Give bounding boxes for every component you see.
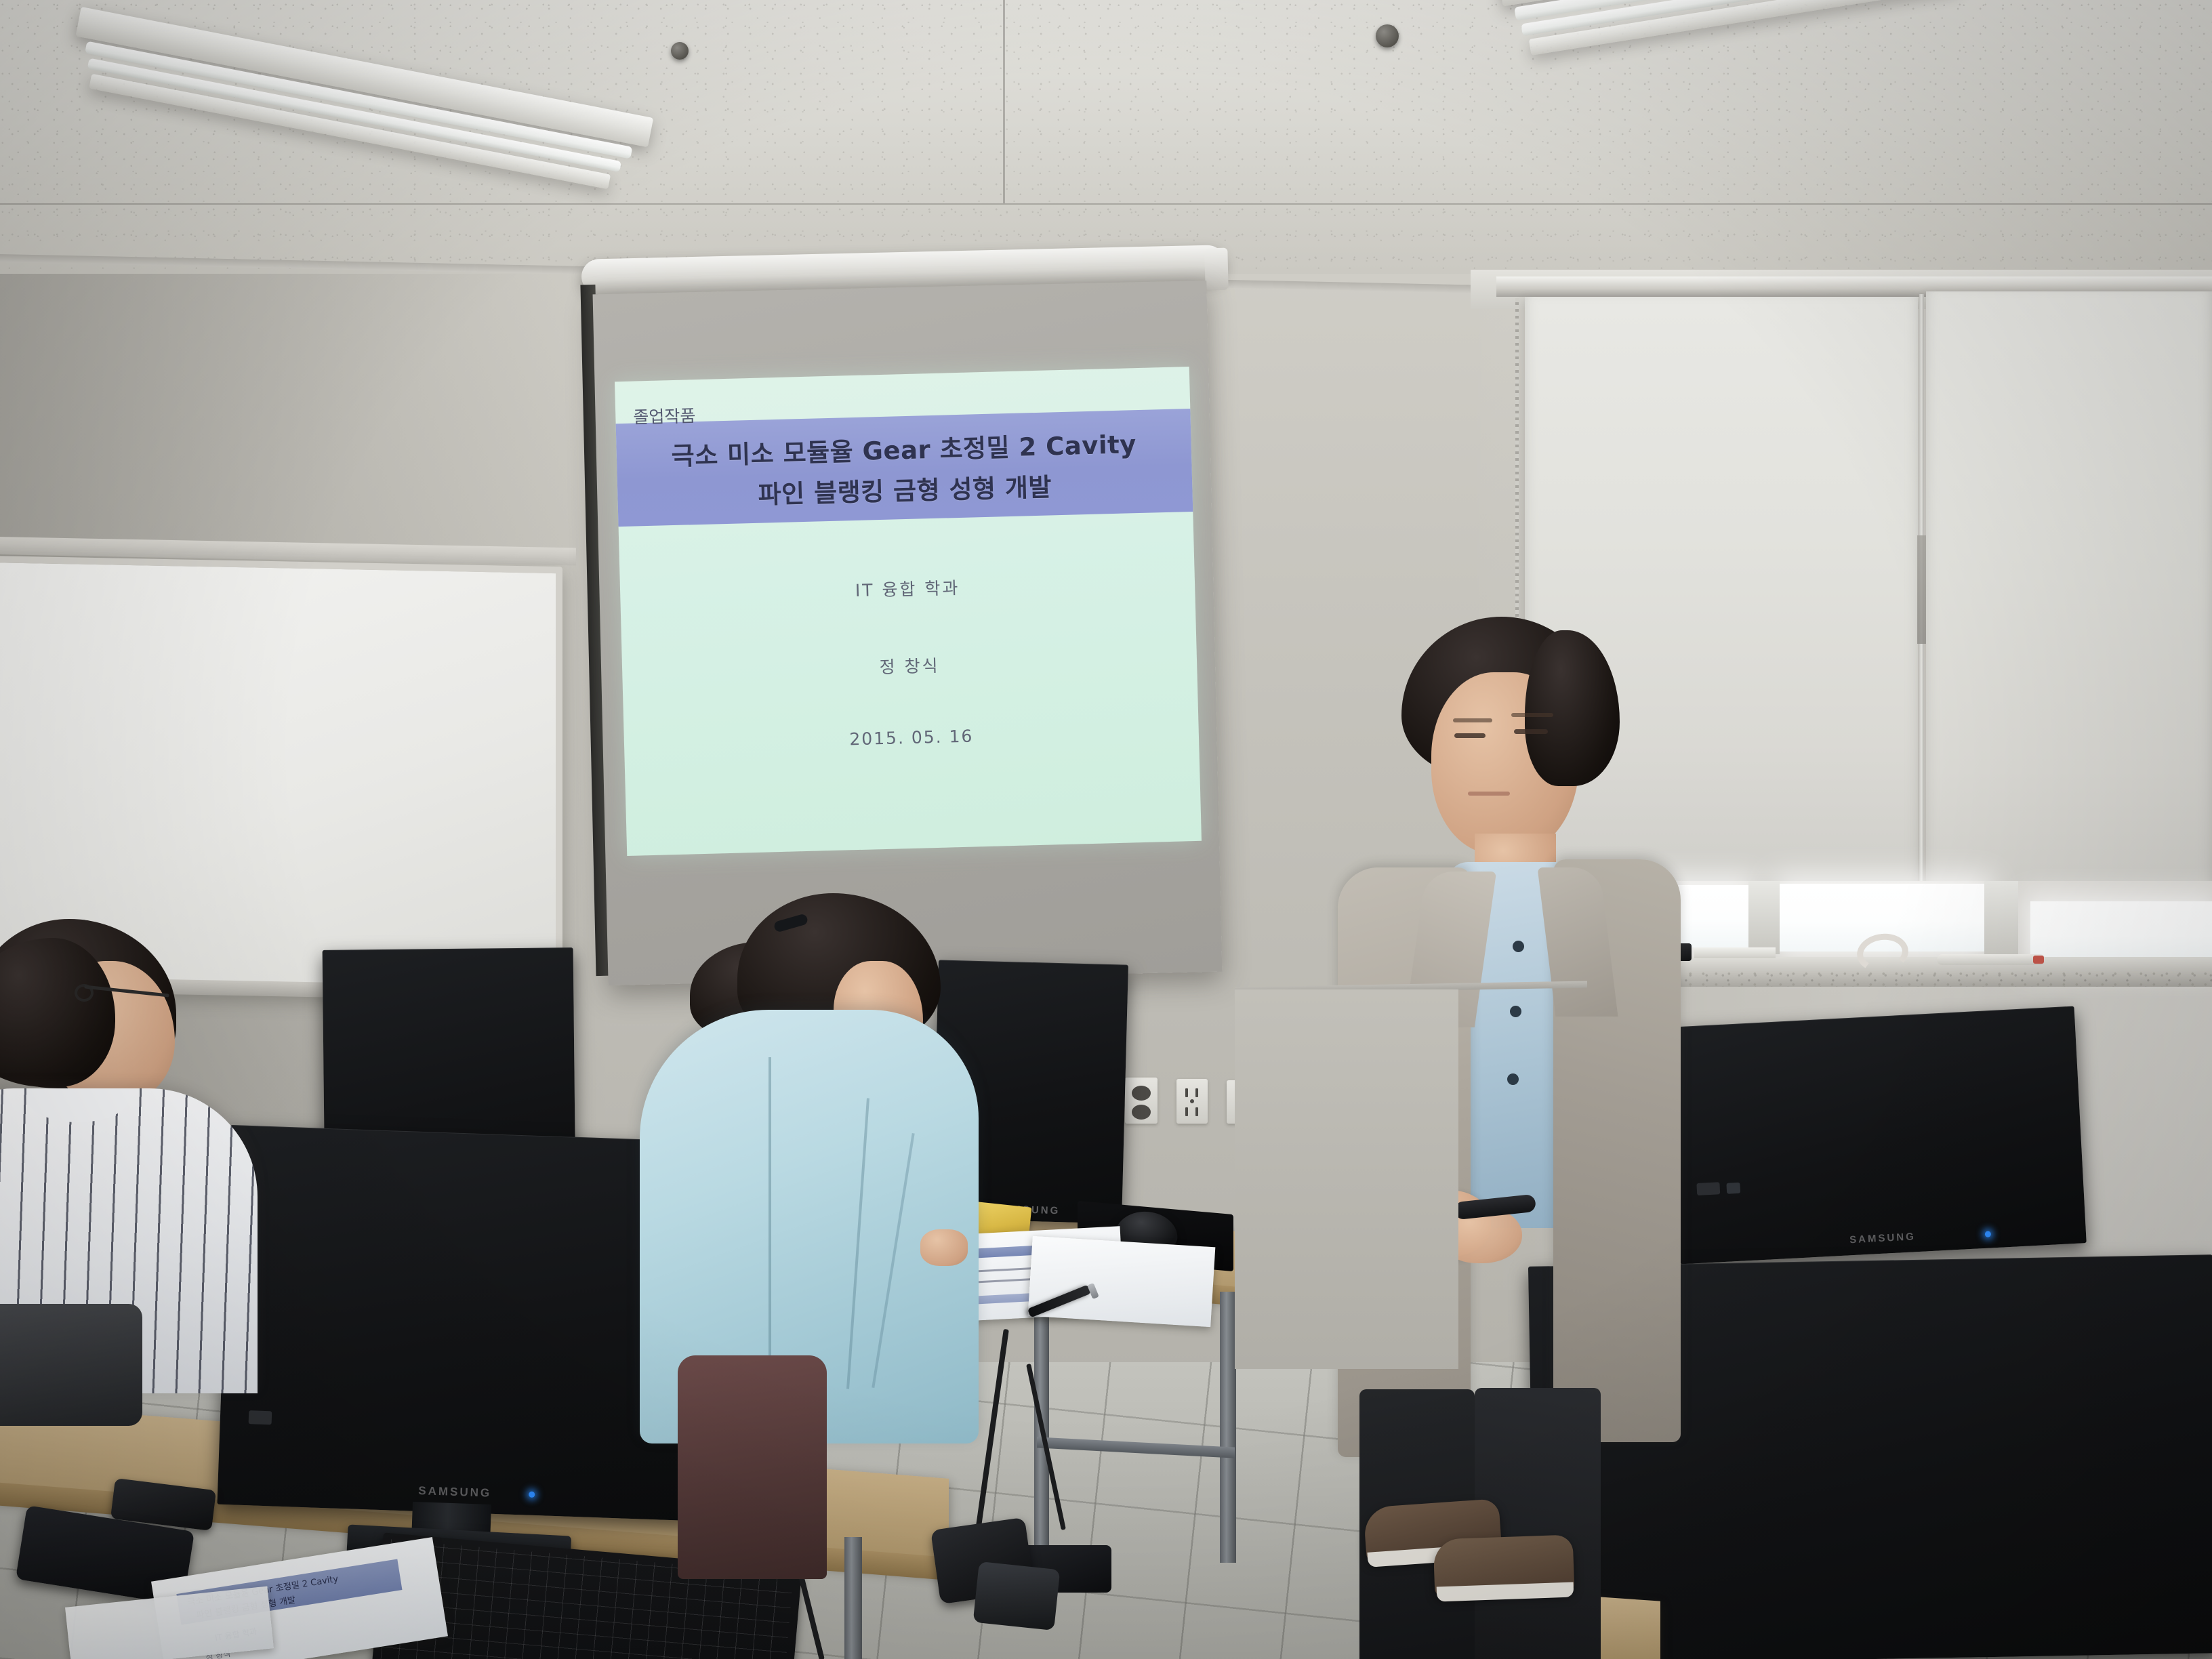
chair-left <box>0 1304 142 1426</box>
presenter-brow-left <box>1453 718 1492 722</box>
projected-slide: 졸업작품 극소 미소 모듈율 Gear 초정밀 2 Cavity 파인 블랭킹 … <box>615 367 1202 856</box>
monitor-brand-label-foreground: SAMSUNG <box>418 1484 492 1500</box>
wall-panel-right <box>1235 989 1458 1369</box>
presenter-eye-right <box>1514 729 1548 734</box>
shirt-button-1 <box>1513 941 1524 952</box>
desk-center-leg-right <box>1220 1292 1236 1563</box>
classroom-photo-scene: 졸업작품 극소 미소 모듈율 Gear 초정밀 2 Cavity 파인 블랭킹 … <box>0 0 2212 1659</box>
equipment-case <box>973 1561 1061 1631</box>
slide-kicker-label: 졸업작품 <box>633 403 696 428</box>
blind-bracket <box>1917 535 1926 644</box>
desk-foreground-left-leg <box>844 1537 862 1659</box>
sill-marker-cap <box>2033 956 2044 964</box>
paper-sheet-right <box>1028 1236 1216 1327</box>
blazer-seam-2 <box>846 1098 869 1389</box>
monitor-logo-badge <box>249 1410 272 1425</box>
window-pane-3 <box>2030 901 2212 964</box>
chair-center <box>678 1355 827 1579</box>
window-sill-texture <box>1589 970 2212 987</box>
sill-papers <box>1694 947 1776 958</box>
slide-department: IT 융합 학과 <box>620 569 1195 608</box>
presenter-eye-left <box>1454 733 1486 738</box>
sprinkler-head-icon <box>1376 24 1399 47</box>
power-outlet-nema[interactable] <box>1176 1079 1208 1124</box>
roller-blind-right[interactable] <box>1926 291 2212 928</box>
slide-date: 2015. 05. 16 <box>624 720 1199 755</box>
shirt-button-3 <box>1507 1073 1519 1085</box>
projector-screen-end-cap <box>1204 248 1228 291</box>
eyeglasses-lens <box>75 984 94 1002</box>
blazer-seam-3 <box>872 1133 914 1388</box>
presenter-brow-right <box>1511 713 1553 717</box>
power-outlet-korean[interactable] <box>1125 1078 1158 1124</box>
sill-marker-pen <box>1937 954 2045 965</box>
presenter-mouth <box>1468 792 1510 796</box>
monitor-right-far: SAMSUNG <box>1668 1006 2086 1265</box>
ceiling-seam-vertical <box>1003 0 1005 203</box>
ceiling-seam <box>0 203 2212 205</box>
presenter-hair-right <box>1525 630 1620 786</box>
slide-presenter-name: 정 창식 <box>622 646 1197 685</box>
blazer-seam-1 <box>769 1057 771 1376</box>
shirt-button-2 <box>1510 1006 1521 1017</box>
window-mullion-2 <box>1984 881 2018 961</box>
window-mullion-1 <box>1748 881 1780 954</box>
center-hand <box>920 1229 968 1266</box>
sprinkler-head-icon-2 <box>671 42 689 60</box>
